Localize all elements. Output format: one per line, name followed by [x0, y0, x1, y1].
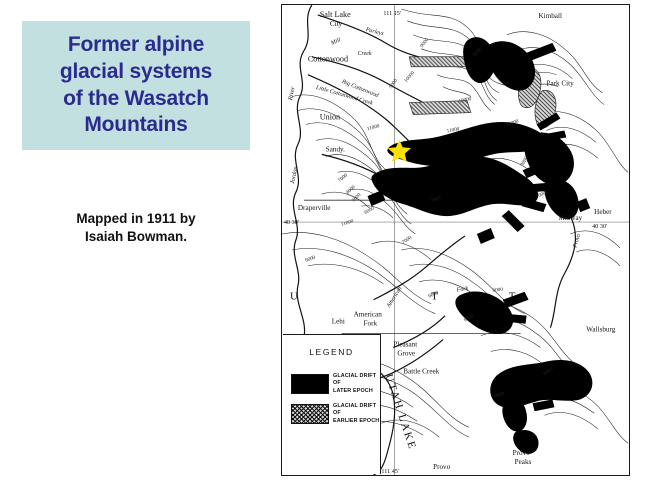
map-label-provo-peaks: Provo [513, 449, 531, 457]
map-coord-lat-40-30-east: 40 30' [592, 224, 607, 230]
map-label-cottonwood: Cottonwood [308, 55, 348, 64]
legend-label-later-epoch: GLACIAL DRIFT OF LATER EPOCH [333, 373, 380, 395]
map-label-heber: Heber [594, 208, 612, 216]
map-coord-lon-111-15: 111 15' [383, 11, 401, 17]
legend-entry-earlier-epoch: GLACIAL DRIFT OF EARLIER EPOCH [291, 403, 380, 425]
map-label-midway: Midway [558, 214, 582, 222]
legend-label-earlier-epoch: GLACIAL DRIFT OF EARLIER EPOCH [333, 403, 380, 425]
map-label-lehi: Lehi [332, 318, 345, 326]
legend-swatch-earlier-epoch [291, 404, 329, 424]
map-label-state-t: T [509, 291, 518, 303]
svg-text:6000: 6000 [492, 287, 503, 294]
map-label-salt-lake-city: Salt Lake [320, 10, 351, 19]
map-label-park-city: Park City [546, 80, 574, 88]
legend-entry-later-epoch: GLACIAL DRIFT OF LATER EPOCH [291, 373, 380, 395]
map-label-provo: Provo [433, 463, 451, 471]
map-label-wallsburg: Wallsburg [586, 326, 616, 334]
page-title: Former alpine glacial systems of the Was… [54, 32, 218, 140]
map-panel: Salt Lake City Cottonwood Union Sandy. D… [277, 0, 634, 480]
legend-swatch-later-epoch [291, 374, 329, 394]
map-label-union: Union [320, 113, 340, 122]
svg-text:City: City [330, 20, 343, 28]
map-label-pleasant-grove: Pleasant [393, 341, 417, 349]
legend-box: LEGEND GLACIAL DRIFT OF LATER EPOCH GLAC… [283, 334, 381, 474]
map-label-sandy: Sandy. [326, 145, 345, 153]
map-coord-lat-40-30-west: 40 30' [284, 220, 299, 226]
svg-text:Fork: Fork [364, 320, 378, 328]
map-label-kimball: Kimball [539, 12, 562, 20]
map-label-american-fork: American [354, 311, 383, 319]
svg-text:Creek: Creek [358, 51, 372, 57]
title-box: Former alpine glacial systems of the Was… [22, 21, 250, 150]
map-label-draperville: Draperville [298, 204, 331, 212]
svg-text:Grove: Grove [397, 350, 415, 358]
map-label-battle-creek: Battle Creek [403, 367, 439, 375]
legend-title: LEGEND [283, 347, 380, 357]
map-label-state-u: U [290, 291, 300, 303]
map-frame: Salt Lake City Cottonwood Union Sandy. D… [281, 4, 630, 476]
map-coord-lon-111-45: 111 45' [381, 469, 399, 475]
text-panel: Former alpine glacial systems of the Was… [0, 0, 277, 487]
svg-text:Peaks: Peaks [515, 458, 532, 466]
map-credit-caption: Mapped in 1911 by Isaiah Bowman. [22, 210, 250, 246]
